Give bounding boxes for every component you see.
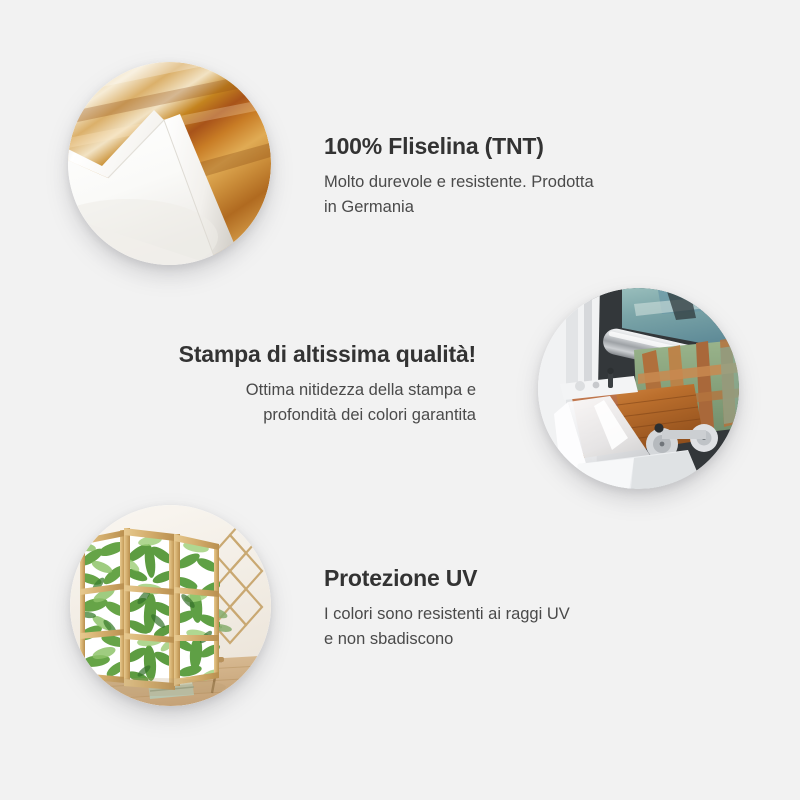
feature-title-fliselina: 100% Fliselina (TNT) [324, 133, 594, 161]
feature-highlights-canvas: 100% Fliselina (TNT) Molto durevole e re… [0, 0, 800, 800]
printing-machine-image [538, 288, 739, 489]
feature-description-fliselina: Molto durevole e resistente. Prodotta in… [324, 170, 594, 220]
description-line: e non sbadiscono [324, 627, 570, 652]
description-line: Molto durevole e resistente. Prodotta [324, 170, 594, 195]
feature-title-uv: Protezione UV [324, 565, 570, 593]
feature-description-uv: I colori sono resistenti ai raggi UV e n… [324, 602, 570, 652]
feature-text-stampa: Stampa di altissima qualità! Ottima niti… [162, 341, 476, 428]
description-line: in Germania [324, 195, 594, 220]
feature-description-stampa: Ottima nitidezza della stampa e profondi… [162, 378, 476, 428]
description-line: Ottima nitidezza della stampa e [162, 378, 476, 403]
description-line: profondità dei colori garantita [162, 403, 476, 428]
wallpaper-roll-peeled-corner-image [68, 62, 271, 265]
feature-text-fliselina: 100% Fliselina (TNT) Molto durevole e re… [324, 133, 594, 220]
tropical-room-divider-image [70, 505, 271, 706]
feature-title-stampa: Stampa di altissima qualità! [162, 341, 476, 369]
description-line: I colori sono resistenti ai raggi UV [324, 602, 570, 627]
feature-text-uv: Protezione UV I colori sono resistenti a… [324, 565, 570, 652]
